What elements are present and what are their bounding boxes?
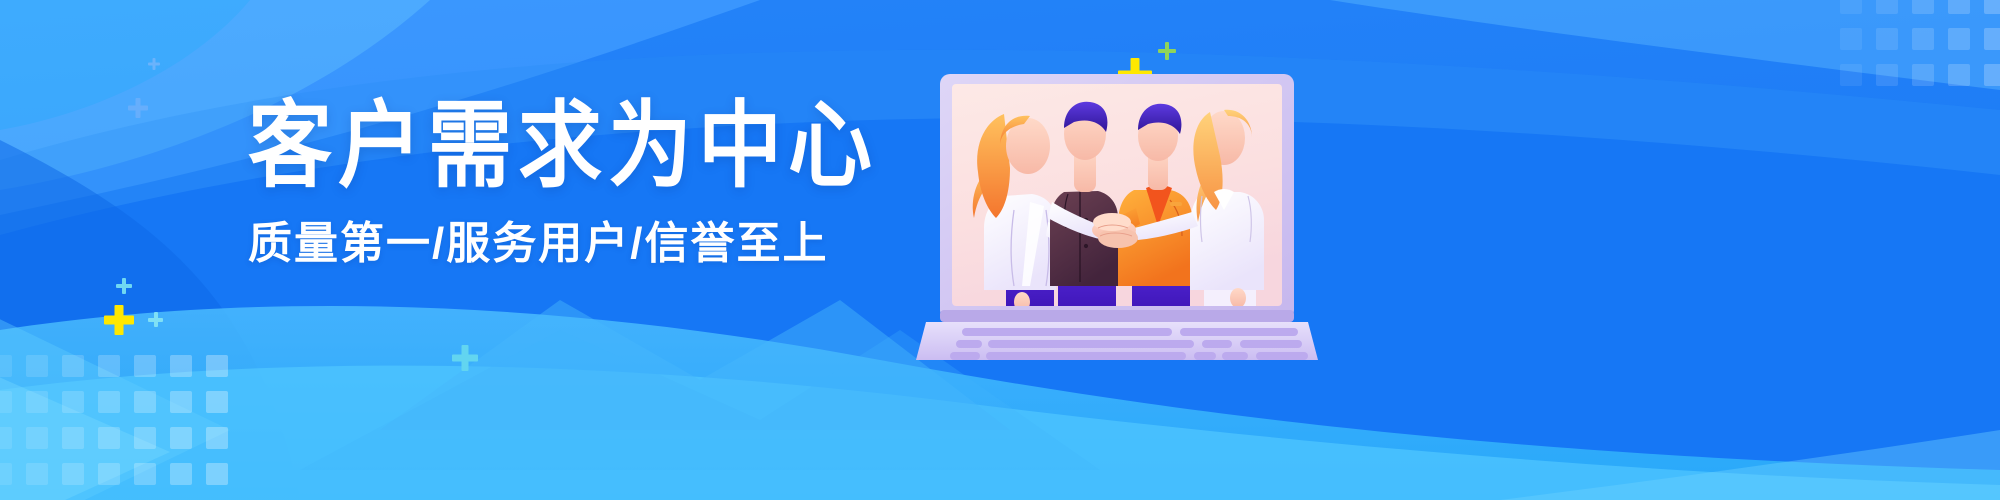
grid-cell — [98, 427, 120, 449]
grid-cell — [1948, 28, 1970, 50]
grid-cell — [98, 391, 120, 413]
team-laptop-illustration — [918, 60, 1318, 360]
grid-cell — [26, 355, 48, 377]
grid-cell — [0, 427, 12, 449]
grid-cell — [206, 427, 228, 449]
grid-cell — [134, 355, 156, 377]
grid-cell — [0, 463, 12, 485]
grid-cell — [170, 463, 192, 485]
page-title: 客户需求为中心 — [248, 96, 848, 195]
grid-cell — [1984, 64, 2000, 86]
grid-cell — [206, 463, 228, 485]
grid-cell — [134, 391, 156, 413]
grid-cell — [206, 355, 228, 377]
grid-cell — [1876, 0, 1898, 14]
grid-cell — [62, 427, 84, 449]
grid-cell — [206, 391, 228, 413]
grid-cell — [134, 463, 156, 485]
grid-cell — [1948, 0, 1970, 14]
grid-cell — [170, 427, 192, 449]
grid-cell — [170, 391, 192, 413]
grid-cell — [0, 391, 12, 413]
grid-cell — [1840, 64, 1862, 86]
grid-cell — [1948, 64, 1970, 86]
promo-banner: 客户需求为中心 质量第一/服务用户/信誉至上 — [0, 0, 2000, 500]
grid-cell — [1912, 64, 1934, 86]
grid-cell — [98, 355, 120, 377]
grid-cell — [1876, 64, 1898, 86]
headline-block: 客户需求为中心 质量第一/服务用户/信誉至上 — [248, 96, 848, 271]
grid-cell — [1840, 28, 1862, 50]
grid-cell — [1840, 0, 1862, 14]
grid-cell — [1876, 28, 1898, 50]
grid-cell — [170, 355, 192, 377]
laptop-hinge — [940, 310, 1294, 322]
grid-cell — [26, 463, 48, 485]
grid-cell — [134, 427, 156, 449]
grid-cell — [62, 391, 84, 413]
grid-cell — [1912, 28, 1934, 50]
grid-cell — [1912, 0, 1934, 14]
grid-cell — [26, 427, 48, 449]
grid-cell — [98, 463, 120, 485]
grid-cell — [1984, 28, 2000, 50]
page-subtitle: 质量第一/服务用户/信誉至上 — [248, 218, 848, 271]
grid-cell — [62, 463, 84, 485]
grid-cell — [26, 391, 48, 413]
grid-cell — [1984, 0, 2000, 14]
grid-cell — [62, 355, 84, 377]
grid-cell — [0, 355, 12, 377]
